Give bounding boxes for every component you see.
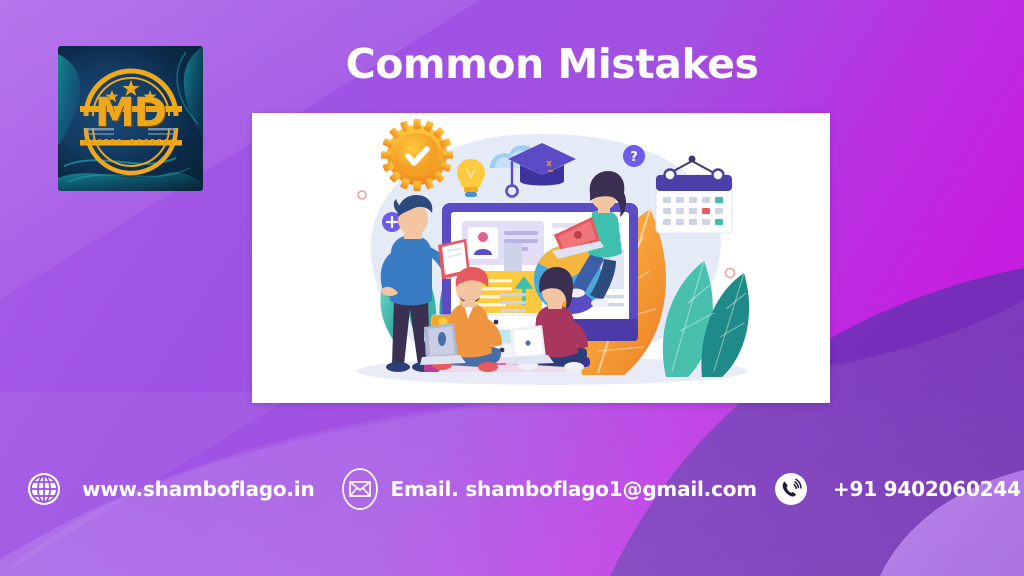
contact-footer: www.shamboflago.in Email. shamboflago1@g… xyxy=(0,458,1024,520)
phone-link[interactable]: +91 9402060244 xyxy=(771,469,1021,509)
website-link[interactable]: www.shamboflago.in xyxy=(24,469,314,509)
envelope-icon xyxy=(340,467,380,511)
illustration-card: ? xyxy=(252,113,830,403)
page-title: Common Mistakes xyxy=(0,40,1024,88)
ring-decor-right-icon xyxy=(726,269,735,278)
globe-icon xyxy=(24,469,64,509)
check-badge-icon xyxy=(381,119,453,191)
email-label: Email. shamboflago1@gmail.com xyxy=(390,477,756,501)
online-education-illustration: ? xyxy=(252,113,830,403)
website-label: www.shamboflago.in xyxy=(82,477,314,501)
phone-icon xyxy=(771,469,811,509)
phone-label: +91 9402060244 xyxy=(833,477,1021,501)
question-badge-icon: ? xyxy=(623,145,645,167)
profile-card-widget xyxy=(462,221,544,265)
logo-tagline: MASTER DIGITAL xyxy=(66,138,196,146)
email-link[interactable]: Email. shamboflago1@gmail.com xyxy=(340,467,756,511)
svg-text:?: ? xyxy=(630,150,638,165)
logo-monogram: MD xyxy=(66,90,196,136)
ring-decor-left-icon xyxy=(358,191,366,199)
